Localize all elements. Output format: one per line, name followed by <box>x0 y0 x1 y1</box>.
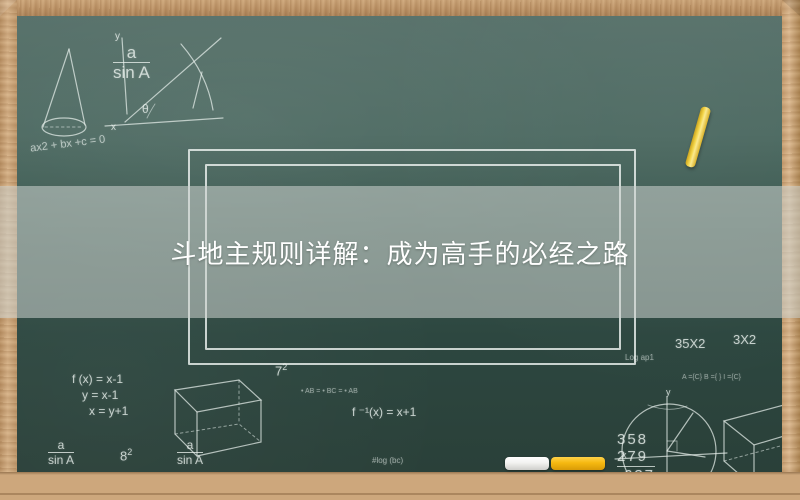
multiply-note-1: 35X2 <box>675 336 705 351</box>
addition-sum: 637 <box>617 466 655 472</box>
addend-2: 279 <box>617 449 655 466</box>
yellow-chalk-stick <box>551 457 605 470</box>
axis-label-y-right: y <box>666 387 671 397</box>
function-line-1: f (x) = x-1 <box>72 371 128 387</box>
inverse-function-note: f ⁻¹(x) = x+1 <box>352 405 416 419</box>
angle-diagram-topleft <box>103 26 233 141</box>
log-bc-note: #log (bc) <box>372 456 403 465</box>
set-notation-note: A ={C} B ={ } I ={C} <box>682 374 741 381</box>
page-title: 斗地主规则详解：成为高手的必经之路 <box>170 234 629 271</box>
function-line-2: y = x-1 <box>72 387 128 403</box>
axis-label-x-topleft: x <box>111 122 116 133</box>
segment-equality-note: • AB = • BC = • AB <box>301 388 358 395</box>
frame-bottom-ledge <box>0 472 800 500</box>
angle-label-theta: θ <box>142 102 149 116</box>
banner-image: a sin A y x θ ax2 + bx +c = 0 f (x) = x-… <box>0 0 800 500</box>
eight-squared: 82 <box>120 447 132 463</box>
eight-exponent: 2 <box>127 447 132 457</box>
cube-drawing-left <box>159 368 269 463</box>
function-notes-bottomleft: f (x) = x-1 y = x-1 x = y+1 <box>72 371 128 420</box>
law-of-sines-fraction-mid: a sin A <box>177 439 203 467</box>
title-overlay-band: 斗地主规则详解：成为高手的必经之路 <box>0 186 800 318</box>
white-chalk-stick <box>505 457 549 470</box>
fraction-numerator: a <box>48 439 74 452</box>
cube-drawing-right <box>710 391 782 472</box>
frame-top-rail <box>0 0 800 16</box>
law-of-sines-fraction-left: a sin A <box>48 439 74 467</box>
gold-chalk-stick <box>685 106 712 168</box>
fraction-numerator: a <box>177 439 203 452</box>
fraction-denominator: sin A <box>48 452 74 467</box>
function-line-3: x = y+1 <box>72 403 128 419</box>
multiply-note-2: 3X2 <box>733 332 756 347</box>
axis-label-y-topleft: y <box>115 31 120 42</box>
addend-1: 358 <box>617 432 655 449</box>
vertical-addition: 358 279 637 <box>617 432 655 472</box>
fraction-denominator: sin A <box>177 452 203 467</box>
